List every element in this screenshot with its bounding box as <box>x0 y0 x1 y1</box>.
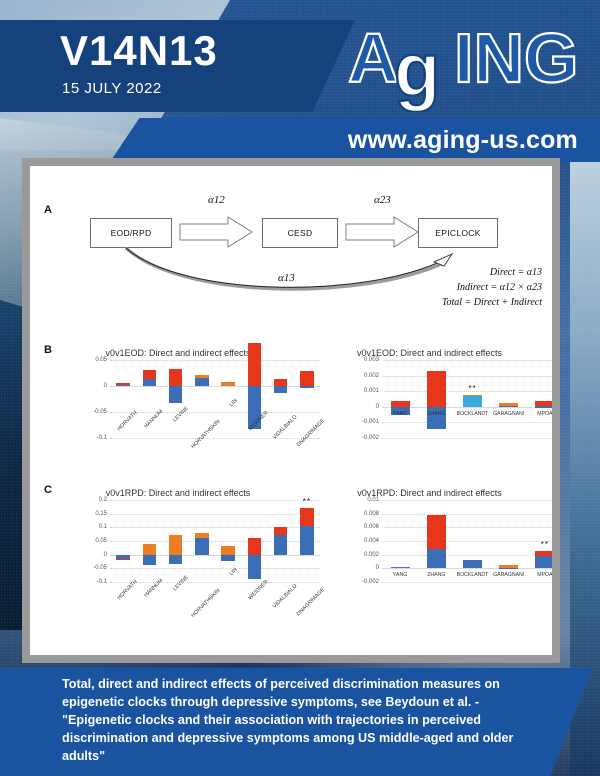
bar-segment-indirect <box>221 546 235 554</box>
x-axis-tick-label: VIDALBIALO <box>272 583 298 609</box>
figure-frame: A EOD/RPD CESD EPICLOCK α12 α23 α13 Dire… <box>22 158 560 663</box>
bar-segment-direct <box>221 555 235 561</box>
bar-segment-direct <box>499 568 518 569</box>
zero-line <box>110 386 320 387</box>
bar-segment-indirect <box>300 371 314 386</box>
y-axis-tick-label: 0.003 <box>364 357 379 363</box>
x-axis-tick-label: BOCKLANDT <box>457 572 489 578</box>
formula-total: Total = Direct + Indirect <box>442 296 542 311</box>
y-axis-tick-label: 0.05 <box>95 538 107 544</box>
bar-segment-indirect <box>274 379 288 386</box>
y-axis-tick-label: 0.2 <box>99 497 107 503</box>
panel-a-arrows <box>30 166 552 336</box>
x-axis-tick-label: MPOA <box>537 572 552 578</box>
bar-segment-indirect <box>535 551 552 556</box>
chart-b-right: v0v1EOD: Direct and indirect effects0.00… <box>322 348 537 468</box>
bar-group <box>143 500 157 582</box>
gridline <box>110 500 320 501</box>
bar-group <box>274 500 288 582</box>
panel-c-letter: C <box>44 484 52 496</box>
bar-segment-direct <box>535 556 552 569</box>
y-axis-tick-label: -0.1 <box>97 435 107 441</box>
x-axis-tick-label: HORVATHSKIN <box>190 588 221 619</box>
y-axis-tick-label: 0.1 <box>99 524 107 530</box>
x-axis-tick-label: ZHANG <box>427 572 445 578</box>
bar-group <box>499 500 518 582</box>
bar-group <box>391 500 410 582</box>
bar-segment-indirect <box>116 383 130 384</box>
y-axis-tick-label: 0 <box>104 383 107 389</box>
y-axis-tick-label: -0.1 <box>97 579 107 585</box>
bar-segment-indirect <box>391 401 410 407</box>
bar-segment-indirect <box>143 370 157 378</box>
bar-segment-indirect <box>195 375 209 378</box>
bar-segment-direct <box>463 396 482 407</box>
bar-segment-direct <box>143 555 157 565</box>
bar-group <box>195 360 209 438</box>
bar-segment-indirect <box>143 544 157 554</box>
gridline <box>110 541 320 542</box>
gridline <box>382 582 552 583</box>
website-url: www.aging-us.com <box>348 126 578 155</box>
bar-segment-direct <box>143 379 157 386</box>
bar-segment-direct <box>427 549 446 569</box>
bar-group <box>427 360 446 438</box>
path-label-a23: α23 <box>374 194 391 206</box>
bar-group <box>499 360 518 438</box>
bar-segment-indirect <box>248 538 262 555</box>
significance-marker: ** <box>303 497 311 506</box>
svg-text:A: A <box>348 20 399 97</box>
y-axis-tick-label: 0 <box>376 404 379 410</box>
bar-segment-direct <box>248 555 262 580</box>
figure-caption: Total, direct and indirect effects of pe… <box>62 676 522 765</box>
panel-a: A EOD/RPD CESD EPICLOCK α12 α23 α13 Dire… <box>30 166 552 336</box>
bar-group <box>248 500 262 582</box>
x-axis-tick-label: YANG <box>393 411 407 417</box>
chart-c-right: v0v1RPD: Direct and indirect effects0.01… <box>322 488 537 613</box>
bar-group <box>391 360 410 438</box>
significance-marker: ** <box>541 540 549 549</box>
significance-marker: ** <box>468 384 476 393</box>
chart-title: v0v1RPD: Direct and indirect effects <box>322 488 537 498</box>
bar-segment-indirect <box>463 395 482 397</box>
gridline <box>110 360 320 361</box>
bar-segment-direct <box>499 406 518 407</box>
bar-group <box>116 500 130 582</box>
bar-segment-direct <box>274 535 288 555</box>
publication-date-label: 15 JULY 2022 <box>62 80 162 97</box>
plot-area: 0.20.150.10.050-0.05-0.1HORVATHHANNUMLEV… <box>110 500 320 582</box>
plot-area: 0.050-0.05-0.1HORVATHHANNUMLEVINEHORVATH… <box>110 360 320 438</box>
bar-segment-direct <box>463 561 482 568</box>
formula-direct: Direct = α13 <box>490 266 542 281</box>
x-axis-tick-label: MPOA <box>537 411 552 417</box>
bar-segment-indirect <box>195 533 209 538</box>
aging-logo: A ING g <box>346 20 586 112</box>
chart-title: v0v1EOD: Direct and indirect effects <box>58 348 298 358</box>
path-label-a13: α13 <box>278 272 295 284</box>
bar-segment-indirect <box>463 560 482 561</box>
y-axis-tick-label: 0.05 <box>95 357 107 363</box>
gridline <box>110 527 320 528</box>
bar-segment-direct <box>274 386 288 393</box>
bar-group <box>463 500 482 582</box>
y-axis-tick-label: -0.001 <box>362 419 379 425</box>
volume-issue-label: V14N13 <box>60 30 218 72</box>
gridline <box>110 568 320 569</box>
bar-segment-indirect <box>274 527 288 535</box>
bar-segment-direct <box>169 386 183 403</box>
x-axis-tick-label: YANG <box>393 572 407 578</box>
svg-text:g: g <box>394 28 440 112</box>
bar-segment-indirect <box>391 567 410 568</box>
y-axis-tick-label: 0 <box>376 565 379 571</box>
y-axis-tick-label: 0.002 <box>364 373 379 379</box>
y-axis-tick-label: 0.15 <box>95 511 107 517</box>
y-axis-tick-label: 0.002 <box>364 552 379 558</box>
gridline <box>110 514 320 515</box>
bar-group <box>463 360 482 438</box>
panel-b-letter: B <box>44 344 52 356</box>
chart-title: v0v1RPD: Direct and indirect effects <box>58 488 298 498</box>
bar-segment-direct <box>300 526 314 554</box>
bar-segment-indirect <box>499 565 518 568</box>
bar-segment-indirect <box>169 369 183 386</box>
zero-line <box>110 555 320 556</box>
bar-group <box>195 500 209 582</box>
y-axis-tick-label: -0.002 <box>362 579 379 585</box>
y-axis-tick-label: 0 <box>104 552 107 558</box>
y-axis-tick-label: -0.05 <box>93 565 107 571</box>
bar-segment-direct <box>535 406 552 407</box>
bar-segment-indirect <box>248 343 262 386</box>
x-axis-tick-label: GARAGNANI <box>493 572 524 578</box>
bar-segment-indirect <box>427 371 446 407</box>
y-axis-tick-label: 0.001 <box>364 388 379 394</box>
path-label-a12: α12 <box>208 194 225 206</box>
x-axis-tick-label: ZHANG <box>427 411 445 417</box>
bar-segment-indirect <box>221 382 235 386</box>
bar-group <box>169 500 183 582</box>
gridline <box>110 582 320 583</box>
bar-segment-direct <box>195 538 209 555</box>
y-axis-tick-label: 0.006 <box>364 524 379 530</box>
bar-group <box>427 500 446 582</box>
chart-title: v0v1EOD: Direct and indirect effects <box>322 348 537 358</box>
bar-segment-indirect <box>499 403 518 406</box>
y-axis-tick-label: 0.008 <box>364 511 379 517</box>
bar-segment-direct <box>300 386 314 388</box>
bar-segment-indirect <box>427 515 446 549</box>
y-axis-tick-label: 0.004 <box>364 538 379 544</box>
bar-segment-indirect <box>169 535 183 555</box>
bar-segment-indirect <box>300 508 314 526</box>
bar-group <box>300 500 314 582</box>
formula-indirect: Indirect = α12 × α23 <box>457 281 542 296</box>
bar-group <box>535 360 552 438</box>
bar-segment-direct <box>195 378 209 386</box>
plot-area: 0.0030.0020.0010-0.001-0.002YANGZHANGBOC… <box>382 360 552 438</box>
bar-group <box>169 360 183 438</box>
figure-sheet: A EOD/RPD CESD EPICLOCK α12 α23 α13 Dire… <box>30 166 552 655</box>
svg-text:ING: ING <box>454 20 578 97</box>
gridline <box>110 412 320 413</box>
gridline <box>382 438 552 439</box>
y-axis-tick-label: 0.01 <box>367 497 379 503</box>
x-axis-tick-label: BOCKLANDT <box>457 411 489 417</box>
poster-root: V14N13 15 JULY 2022 A ING g www.aging-us… <box>0 0 600 776</box>
y-axis-tick-label: -0.05 <box>93 409 107 415</box>
chart-c-left: v0v1RPD: Direct and indirect effects0.20… <box>58 488 298 613</box>
chart-b-left: v0v1EOD: Direct and indirect effects0.05… <box>58 348 298 468</box>
bar-segment-indirect <box>116 559 130 560</box>
bar-segment-indirect <box>535 401 552 406</box>
plot-area: 0.010.0080.0060.0040.0020-0.002YANGZHANG… <box>382 500 552 582</box>
gridline <box>110 438 320 439</box>
bar-segment-direct <box>169 555 183 565</box>
x-axis-tick-label: GARAGNANI <box>493 411 524 417</box>
y-axis-tick-label: -0.002 <box>362 435 379 441</box>
